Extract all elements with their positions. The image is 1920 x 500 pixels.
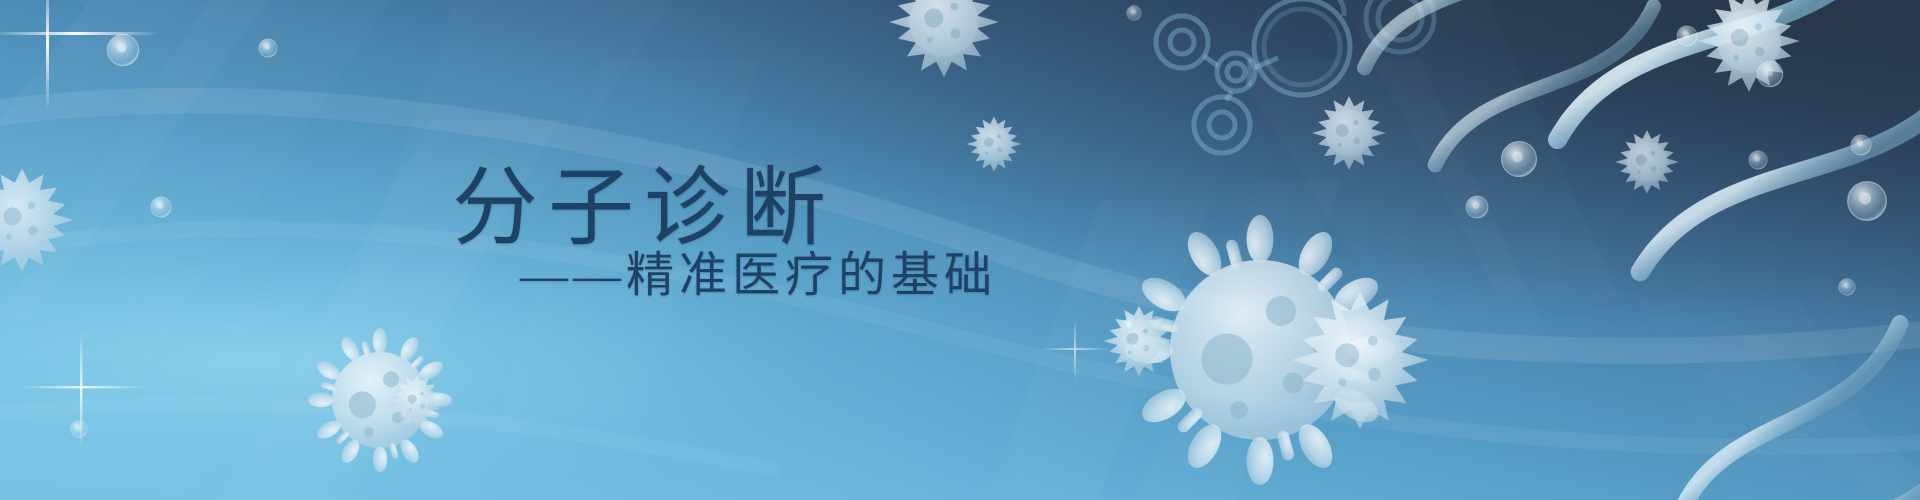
banner: 分子诊断 ——精准医疗的基础 [0, 0, 1920, 500]
background-graphics [0, 0, 1920, 500]
background-layer [0, 0, 1920, 500]
